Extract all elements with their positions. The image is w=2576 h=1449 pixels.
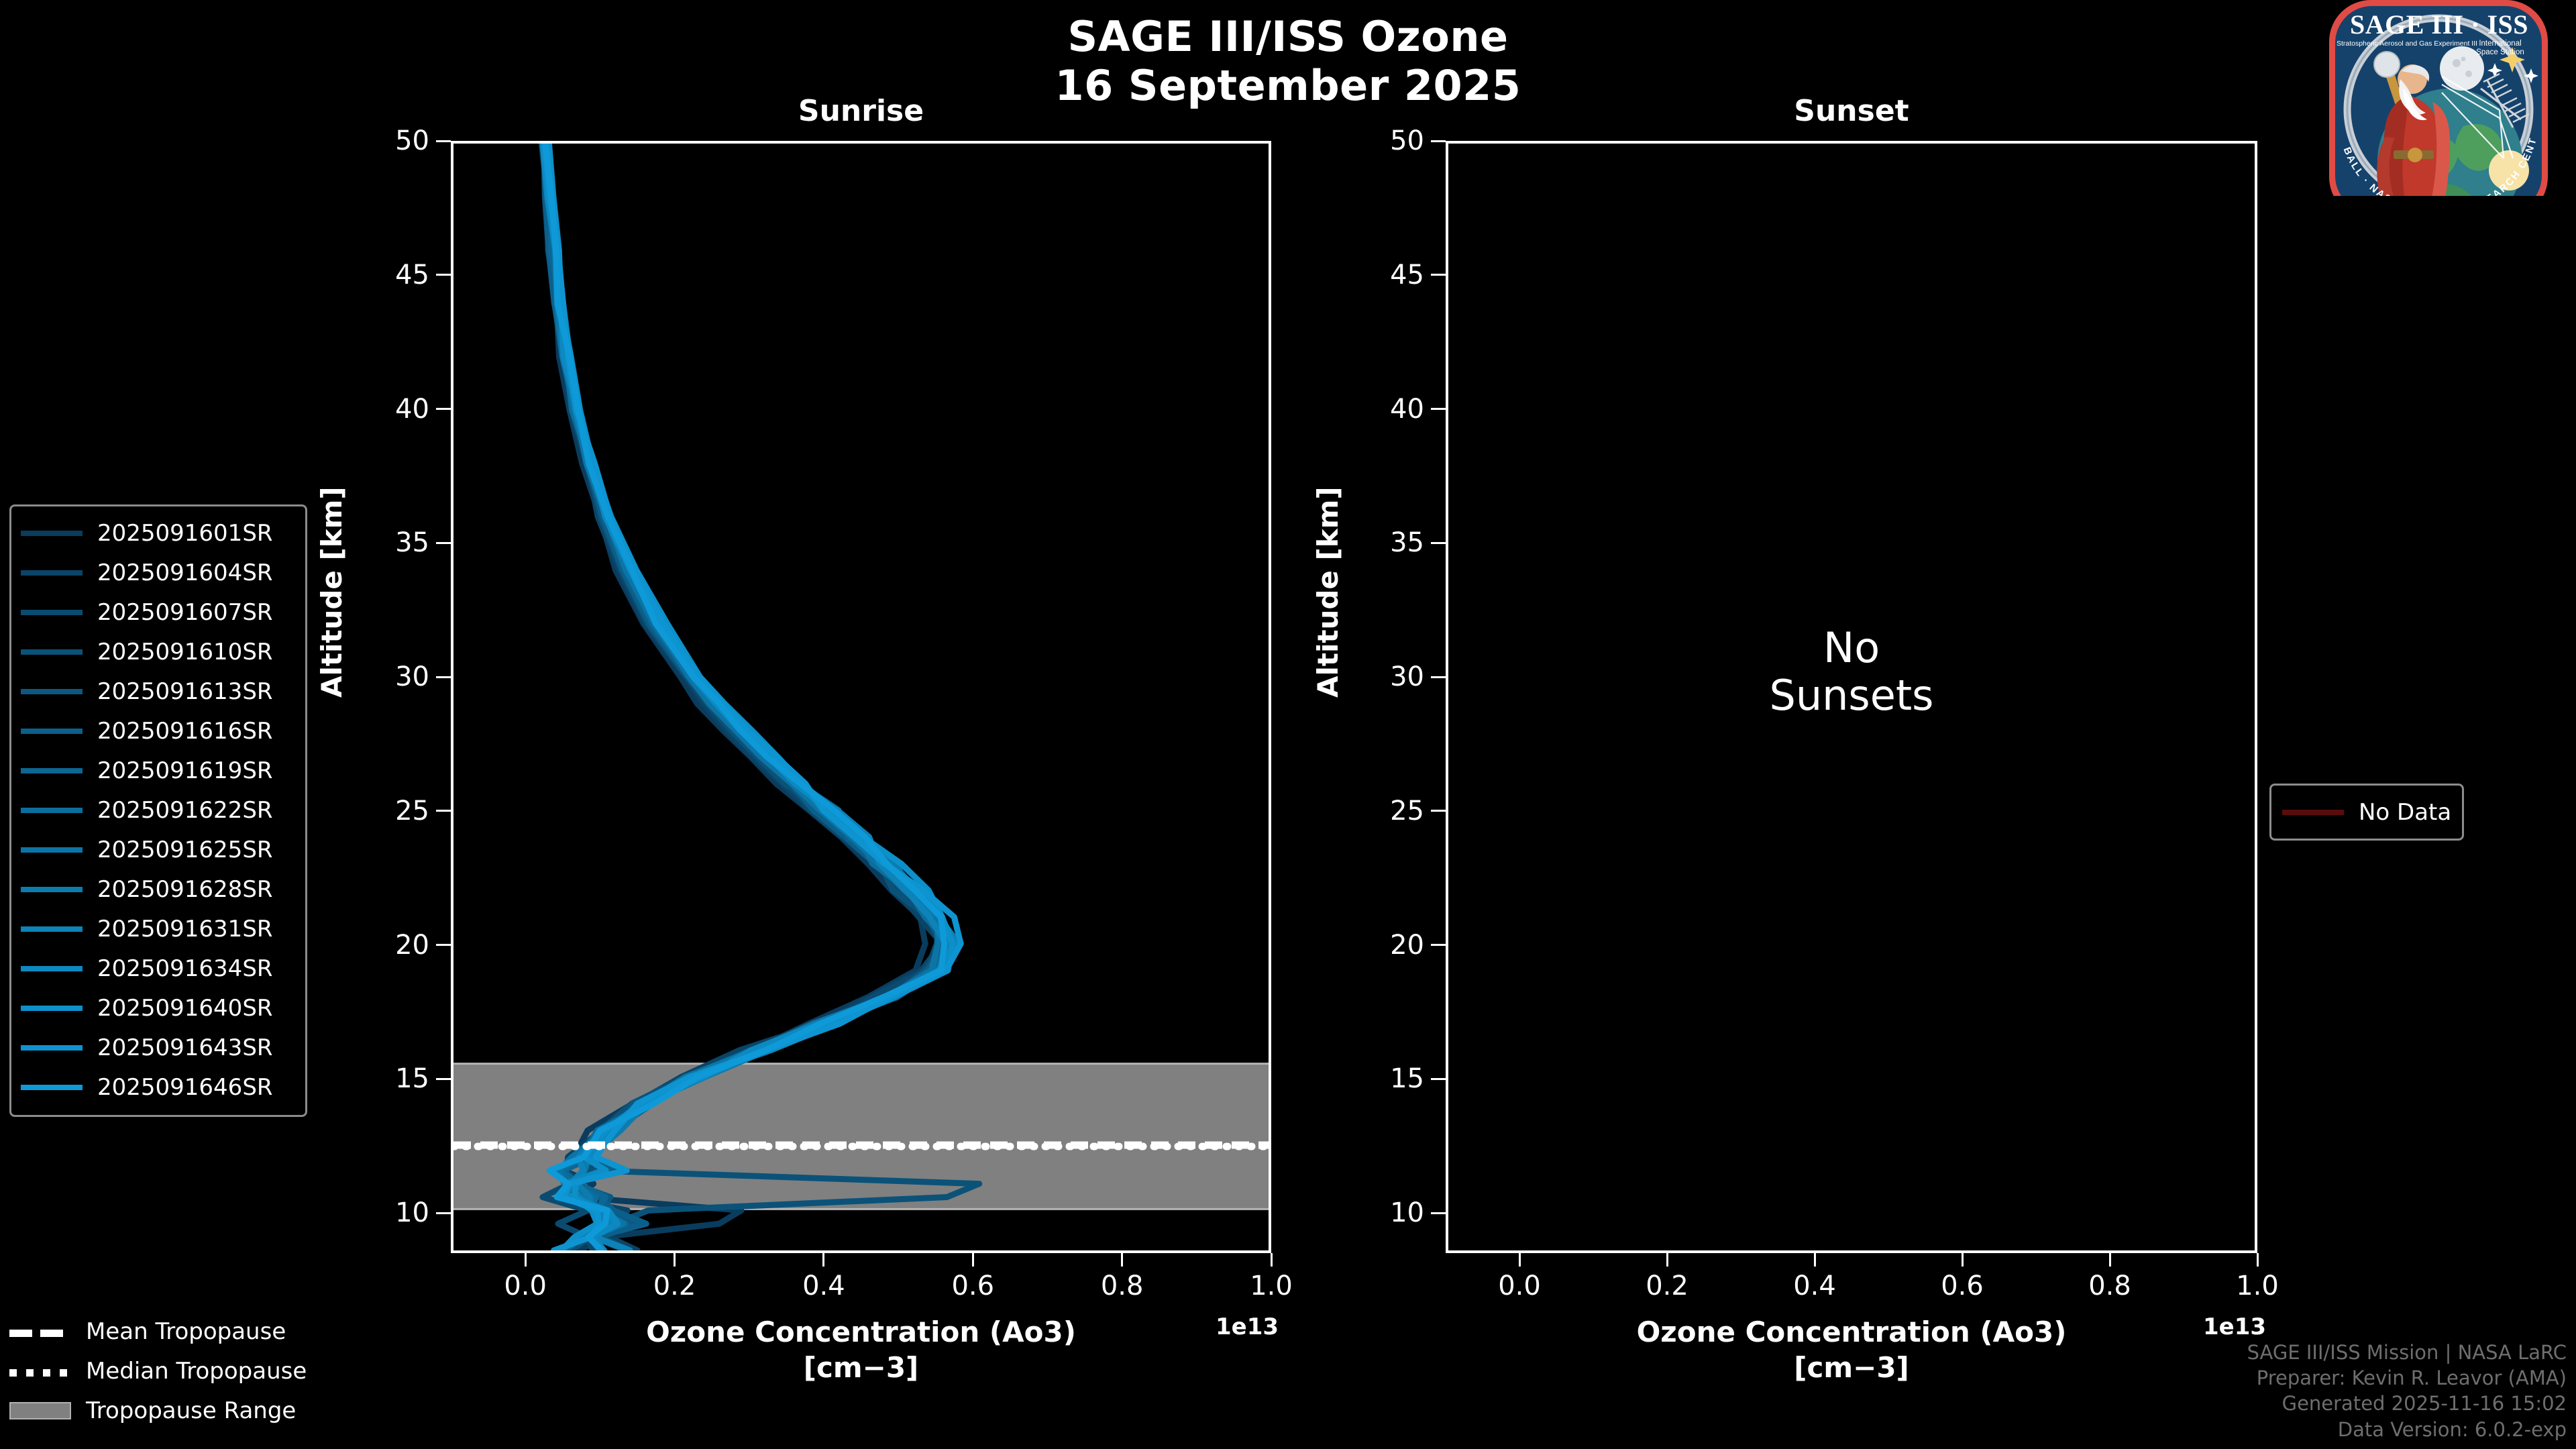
legend-line-swatch [21, 1045, 83, 1051]
legend-line-swatch [21, 847, 83, 853]
no-data-line-swatch [2282, 810, 2344, 815]
no-data-legend[interactable]: No Data [2269, 784, 2464, 841]
x-axis-tick-label: 0.4 [1793, 1271, 1836, 1301]
y-axis-tick-label: 30 [357, 661, 429, 692]
y-axis-tick [436, 676, 451, 678]
x-axis-tick-label: 0.0 [1498, 1271, 1541, 1301]
legend-item: 2025091646SR [21, 1067, 296, 1107]
legend-line-swatch [21, 570, 83, 576]
x-axis-tick-label: 1.0 [1250, 1271, 1293, 1301]
legend-line-swatch [21, 649, 83, 655]
y-axis-tick [436, 542, 451, 544]
x-axis-tick [972, 1253, 974, 1267]
legend-item: 2025091601SR [21, 513, 296, 553]
legend-item: Mean Tropopause [9, 1311, 358, 1351]
x-axis-tick [2109, 1253, 2111, 1267]
credits-text: SAGE III/ISS Mission | NASA LaRC Prepare… [2247, 1340, 2567, 1442]
svg-text:Stratospheric Aerosol and Gas: Stratospheric Aerosol and Gas Experiment… [2337, 40, 2477, 48]
legend-item: 2025091610SR [21, 632, 296, 672]
legend-item-label: 2025091610SR [97, 639, 273, 665]
y-axis-tick-label: 40 [1352, 394, 1424, 425]
no-sunsets-annotation: No Sunsets [1446, 624, 2257, 720]
tropopause-line-swatch [9, 1369, 71, 1377]
x-axis-tick [1121, 1253, 1123, 1267]
x-axis-tick-label: 0.6 [951, 1271, 994, 1301]
x-axis-tick-label: 0.6 [1941, 1271, 1984, 1301]
y-axis-tick-label: 40 [357, 394, 429, 425]
legend-item: 2025091634SR [21, 949, 296, 988]
legend-line-swatch [21, 1006, 83, 1011]
y-axis-tick-label: 25 [357, 796, 429, 826]
y-axis-tick-label: 50 [1352, 125, 1424, 156]
tropopause-line-swatch [9, 1330, 71, 1337]
svg-text:International: International [2479, 40, 2521, 48]
y-axis-tick [436, 1078, 451, 1080]
legend-line-swatch [21, 768, 83, 773]
x-axis-tick-label: 0.8 [2088, 1271, 2131, 1301]
sunrise-y-axis-label: Altitude [km] [315, 486, 348, 698]
y-axis-tick-label: 10 [357, 1197, 429, 1228]
y-axis-tick [1431, 542, 1446, 544]
legend-item-label: 2025091613SR [97, 678, 273, 705]
y-axis-tick-label: 20 [357, 930, 429, 961]
sunset-x-axis-offset: 1e13 [2203, 1313, 2266, 1340]
legend-item: 2025091625SR [21, 830, 296, 869]
y-axis-tick [1431, 1212, 1446, 1214]
sage-iii-iss-mission-patch-logo: BALL · NASA LANGLEY RESEARCH CENTER · S-… [2308, 0, 2569, 196]
sunrise-x-axis-offset: 1e13 [1216, 1313, 1279, 1340]
legend-item-label: Mean Tropopause [86, 1318, 286, 1345]
x-axis-tick [674, 1253, 676, 1267]
y-axis-tick [436, 944, 451, 946]
x-axis-tick-label: 1.0 [2236, 1271, 2279, 1301]
legend-item-label: 2025091646SR [97, 1074, 273, 1101]
svg-text:Space Station: Space Station [2476, 48, 2524, 56]
x-axis-tick [1814, 1253, 1816, 1267]
legend-item-label: 2025091601SR [97, 520, 273, 547]
legend-item-label: No Data [2359, 799, 2451, 826]
legend-item: Tropopause Range [9, 1391, 358, 1430]
x-axis-tick [2257, 1253, 2259, 1267]
legend-item-label: Median Tropopause [86, 1358, 307, 1385]
y-axis-tick-label: 30 [1352, 661, 1424, 692]
y-axis-tick [436, 810, 451, 812]
legend-line-swatch [21, 610, 83, 615]
legend-line-swatch [21, 887, 83, 892]
event-legend[interactable]: 2025091601SR2025091604SR2025091607SR2025… [9, 504, 307, 1117]
y-axis-tick-label: 45 [357, 260, 429, 290]
x-axis-tick-label: 0.4 [802, 1271, 845, 1301]
sunrise-x-axis-label: Ozone Concentration (Ao3) [cm−3] [451, 1315, 1271, 1385]
y-axis-tick [1431, 274, 1446, 276]
sunrise-plot-area[interactable] [451, 141, 1271, 1253]
y-axis-tick-label: 35 [357, 527, 429, 558]
y-axis-tick [436, 1212, 451, 1214]
tropopause-legend[interactable]: Mean TropopauseMedian TropopauseTropopau… [9, 1311, 358, 1430]
y-axis-tick [436, 408, 451, 410]
y-axis-tick-label: 20 [1352, 930, 1424, 961]
x-axis-tick-label: 0.2 [1646, 1271, 1688, 1301]
legend-line-swatch [21, 689, 83, 694]
x-axis-tick [1962, 1253, 1964, 1267]
legend-item: 2025091631SR [21, 909, 296, 949]
legend-item: No Data [2282, 792, 2451, 832]
sunset-x-axis-label: Ozone Concentration (Ao3) [cm−3] [1446, 1315, 2257, 1385]
legend-item-label: 2025091640SR [97, 995, 273, 1022]
sunrise-profile-plot [453, 144, 1269, 1250]
legend-item: 2025091616SR [21, 711, 296, 751]
x-axis-tick [525, 1253, 527, 1267]
legend-line-swatch [21, 966, 83, 971]
y-axis-tick [436, 140, 451, 142]
legend-item: 2025091628SR [21, 869, 296, 909]
x-axis-tick [1519, 1253, 1521, 1267]
legend-line-swatch [21, 926, 83, 932]
legend-line-swatch [21, 808, 83, 813]
legend-item: 2025091622SR [21, 790, 296, 830]
y-axis-tick-label: 10 [1352, 1197, 1424, 1228]
legend-item-label: 2025091619SR [97, 757, 273, 784]
y-axis-tick [1431, 810, 1446, 812]
y-axis-tick-label: 50 [357, 125, 429, 156]
x-axis-tick [1271, 1253, 1273, 1267]
legend-item-label: 2025091622SR [97, 797, 273, 824]
y-axis-tick [1431, 140, 1446, 142]
legend-item: 2025091613SR [21, 672, 296, 711]
sunset-panel-subtitle: Sunset [1446, 94, 2257, 128]
legend-item-label: 2025091607SR [97, 599, 273, 626]
legend-item-label: 2025091634SR [97, 955, 273, 982]
legend-item-label: 2025091604SR [97, 559, 273, 586]
legend-item-label: 2025091643SR [97, 1034, 273, 1061]
legend-item-label: 2025091631SR [97, 916, 273, 943]
y-axis-tick [1431, 944, 1446, 946]
legend-item-label: 2025091625SR [97, 837, 273, 863]
y-axis-tick-label: 35 [1352, 527, 1424, 558]
legend-line-swatch [21, 1085, 83, 1090]
legend-item-label: 2025091628SR [97, 876, 273, 903]
y-axis-tick [1431, 408, 1446, 410]
legend-item: 2025091643SR [21, 1028, 296, 1067]
legend-item-label: Tropopause Range [86, 1397, 296, 1424]
sunrise-panel-subtitle: Sunrise [451, 94, 1271, 128]
x-axis-tick-label: 0.2 [653, 1271, 696, 1301]
svg-text:SAGE III · ISS: SAGE III · ISS [2350, 9, 2528, 40]
legend-item: 2025091619SR [21, 751, 296, 790]
legend-line-swatch [21, 531, 83, 536]
x-axis-tick [822, 1253, 824, 1267]
legend-item: 2025091604SR [21, 553, 296, 592]
x-axis-tick-label: 0.0 [504, 1271, 547, 1301]
legend-item: 2025091607SR [21, 592, 296, 632]
y-axis-tick [436, 274, 451, 276]
y-axis-tick [1431, 1078, 1446, 1080]
legend-line-swatch [21, 729, 83, 734]
y-axis-tick-label: 45 [1352, 260, 1424, 290]
legend-item-label: 2025091616SR [97, 718, 273, 745]
y-axis-tick-label: 15 [357, 1063, 429, 1094]
legend-item: Median Tropopause [9, 1351, 358, 1391]
legend-item: 2025091640SR [21, 988, 296, 1028]
tropopause-range-swatch [9, 1402, 71, 1419]
sunset-y-axis-label: Altitude [km] [1311, 486, 1344, 698]
x-axis-tick [1666, 1253, 1668, 1267]
y-axis-tick-label: 15 [1352, 1063, 1424, 1094]
x-axis-tick-label: 0.8 [1101, 1271, 1144, 1301]
y-axis-tick-label: 25 [1352, 796, 1424, 826]
y-axis-tick [1431, 676, 1446, 678]
